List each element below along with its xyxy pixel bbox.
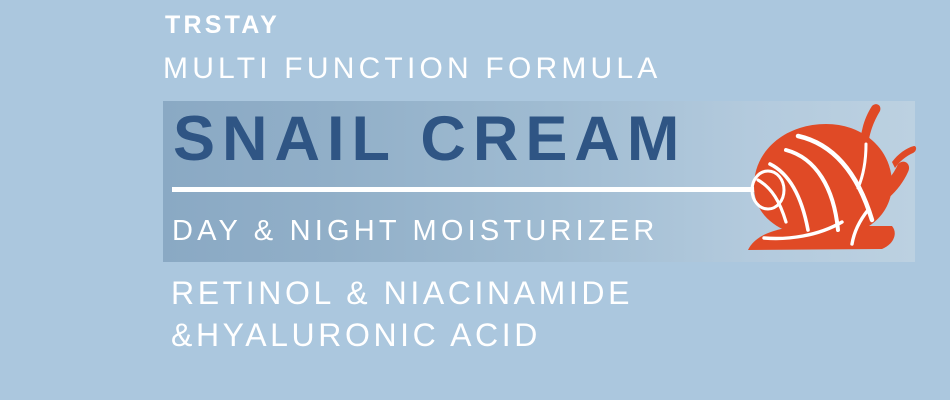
product-subhead: DAY & NIGHT MOISTURIZER bbox=[172, 217, 659, 246]
divider-rule bbox=[172, 187, 755, 192]
product-headline: SNAIL CREAM bbox=[173, 108, 686, 171]
ingredient-line-1: RETINOL & NIACINAMIDE bbox=[171, 272, 633, 314]
product-banner-poster: TRSTAY MULTI FUNCTION FORMULA SNAIL CREA… bbox=[0, 0, 950, 400]
snail-icon-graphic bbox=[748, 104, 916, 250]
brand-tagline: MULTI FUNCTION FORMULA bbox=[163, 54, 662, 84]
ingredient-line-2: &HYALURONIC ACID bbox=[171, 314, 633, 356]
ingredients-list: RETINOL & NIACINAMIDE &HYALURONIC ACID bbox=[171, 272, 633, 356]
brand-name: TRSTAY bbox=[165, 13, 280, 38]
snail-icon bbox=[742, 102, 917, 262]
